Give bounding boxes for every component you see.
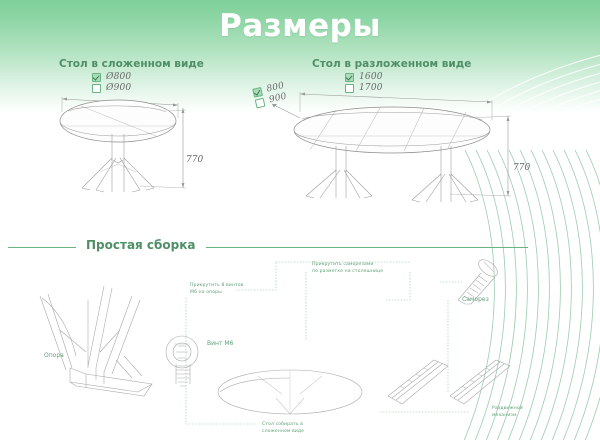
checkbox-unchecked-icon[interactable]	[92, 84, 101, 93]
note-screws: Прикрутить 8 винтов М6 на опоры	[190, 283, 243, 296]
checkbox-checked-icon[interactable]	[252, 86, 263, 97]
option-label: 1700	[359, 83, 383, 93]
section-title-unfolded: Стол в разложенном виде	[312, 58, 471, 70]
header-banner: Размеры	[0, 0, 600, 112]
length-options-unfolded[interactable]: 1600 1700	[345, 72, 383, 94]
option-row[interactable]: 1600	[345, 72, 383, 82]
height-dimension-unfolded: 770	[513, 163, 530, 173]
option-label: Ø800	[106, 72, 131, 82]
checkbox-unchecked-icon[interactable]	[255, 97, 266, 108]
option-row[interactable]: 1700	[345, 83, 383, 93]
assembly-section-title: Простая сборка	[76, 238, 206, 252]
infographic-page: Размеры Стол в сложенном виде Стол в раз…	[0, 0, 600, 440]
diameter-options-folded[interactable]: Ø800 Ø900	[92, 72, 131, 94]
part-label-vint: Винт М6	[207, 340, 233, 347]
checkbox-checked-icon[interactable]	[345, 73, 354, 82]
section-title-folded: Стол в сложенном виде	[59, 58, 204, 70]
option-label: Ø900	[106, 83, 131, 93]
part-label-mechanism: Раздвижной механизм	[492, 406, 523, 419]
note-selftap: Прикрутить саморезами по разметке на сто…	[312, 262, 383, 275]
part-label-opora: Опора	[44, 352, 64, 359]
side-swirl-decoration	[460, 150, 600, 440]
part-label-samorez: Саморез	[462, 296, 489, 303]
note-assemble: Стол собирать в сложенном виде	[262, 422, 304, 435]
checkbox-unchecked-icon[interactable]	[345, 84, 354, 93]
option-label: 1600	[359, 72, 383, 82]
height-dimension-folded: 770	[186, 155, 203, 165]
page-title: Размеры	[0, 8, 600, 44]
option-row[interactable]: Ø800	[92, 72, 131, 82]
checkbox-checked-icon[interactable]	[92, 73, 101, 82]
option-row[interactable]: Ø900	[92, 83, 131, 93]
